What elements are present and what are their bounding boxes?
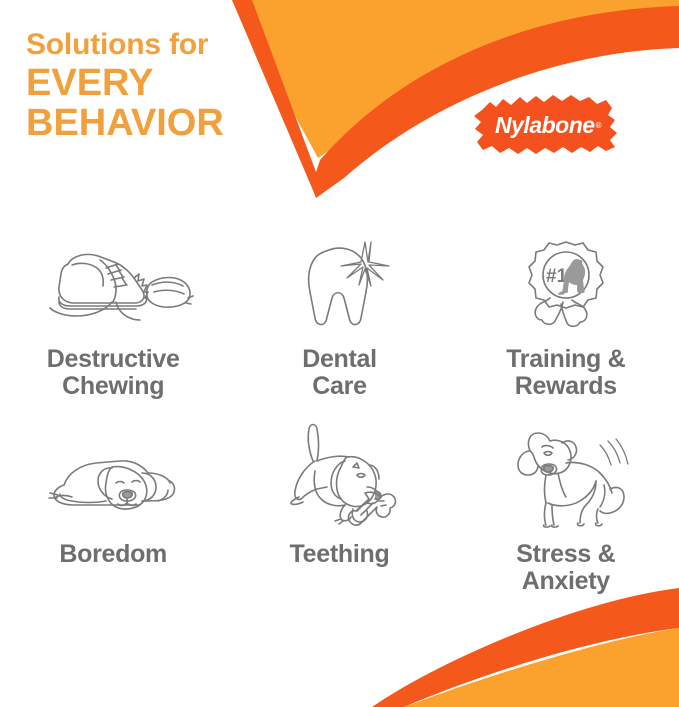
logo-brand-name: Nylabone <box>495 112 595 139</box>
standing-anxious-dog-icon <box>496 431 636 531</box>
behavior-grid: Destructive Chewing Dental Care <box>0 236 679 626</box>
behavior-label-teething: Teething <box>290 541 390 568</box>
logo-trademark: ® <box>596 121 601 130</box>
headline-line-2: EVERY <box>26 64 224 102</box>
bottom-swoosh-light-shape <box>404 628 679 707</box>
headline-line-1: Solutions for <box>26 30 224 60</box>
nylabone-logo: Nylabone® <box>470 88 622 162</box>
lying-dog-icon <box>28 431 198 531</box>
behavior-label-dental-care: Dental Care <box>302 346 377 400</box>
behavior-label-training-rewards: Training & Rewards <box>506 346 625 400</box>
sparkling-tooth-icon <box>279 236 399 336</box>
chewed-shoe-icon <box>28 236 198 336</box>
behavior-label-boredom: Boredom <box>59 541 167 568</box>
behavior-cell-training-rewards: #1 Training & Rewards <box>453 236 679 431</box>
behavior-cell-stress-anxiety: Stress & Anxiety <box>453 431 679 626</box>
puppy-chewing-bone-icon <box>269 431 409 531</box>
behavior-cell-dental-care: Dental Care <box>226 236 452 431</box>
page-title: Solutions for EVERY BEHAVIOR <box>26 30 224 144</box>
award-rosette-icon: #1 <box>506 236 626 336</box>
nylabone-behavior-poster: Solutions for EVERY BEHAVIOR Nylabone® <box>0 0 679 707</box>
logo-wordmark: Nylabone® <box>470 88 622 162</box>
headline-line-3: BEHAVIOR <box>26 104 224 142</box>
behavior-cell-destructive-chewing: Destructive Chewing <box>0 236 226 431</box>
behavior-cell-teething: Teething <box>226 431 452 626</box>
behavior-label-stress-anxiety: Stress & Anxiety <box>516 541 615 595</box>
behavior-label-destructive-chewing: Destructive Chewing <box>47 346 180 400</box>
behavior-cell-boredom: Boredom <box>0 431 226 626</box>
